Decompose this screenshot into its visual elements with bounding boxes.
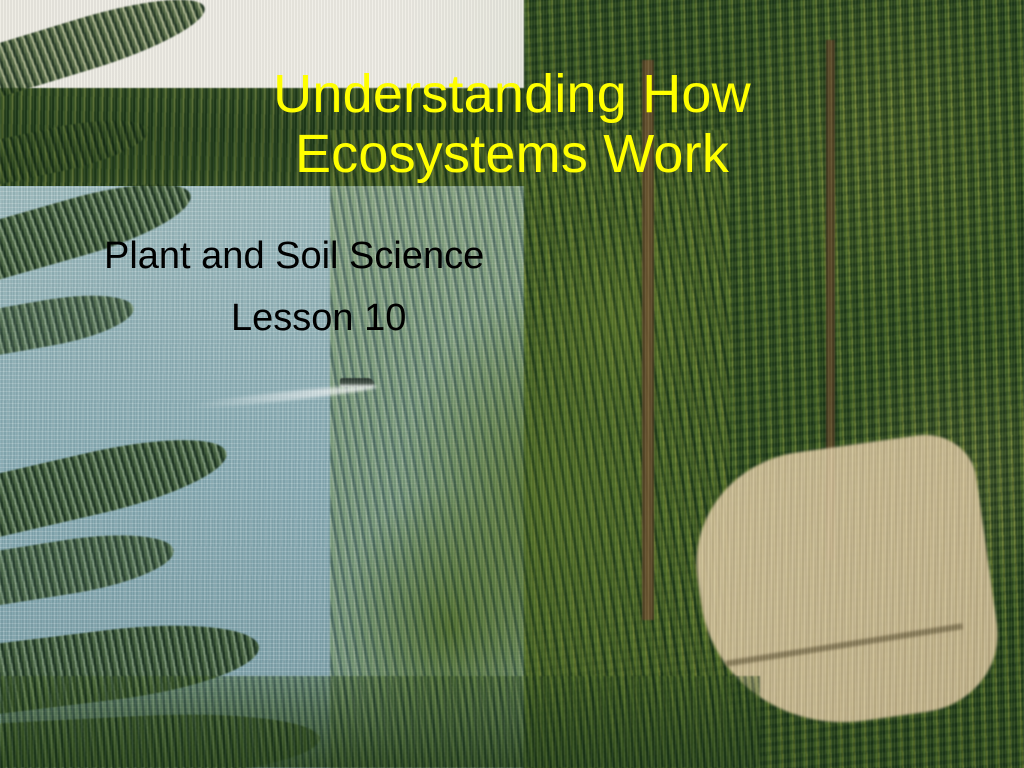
slide-subtitle-lesson: Lesson 10 <box>231 298 406 340</box>
slide-subtitle-course: Plant and Soil Science <box>104 236 484 278</box>
presentation-slide: Understanding How Ecosystems Work Plant … <box>0 0 1024 768</box>
slide-title: Understanding How Ecosystems Work <box>0 64 1024 185</box>
slide-text-layer: Understanding How Ecosystems Work Plant … <box>0 0 1024 768</box>
